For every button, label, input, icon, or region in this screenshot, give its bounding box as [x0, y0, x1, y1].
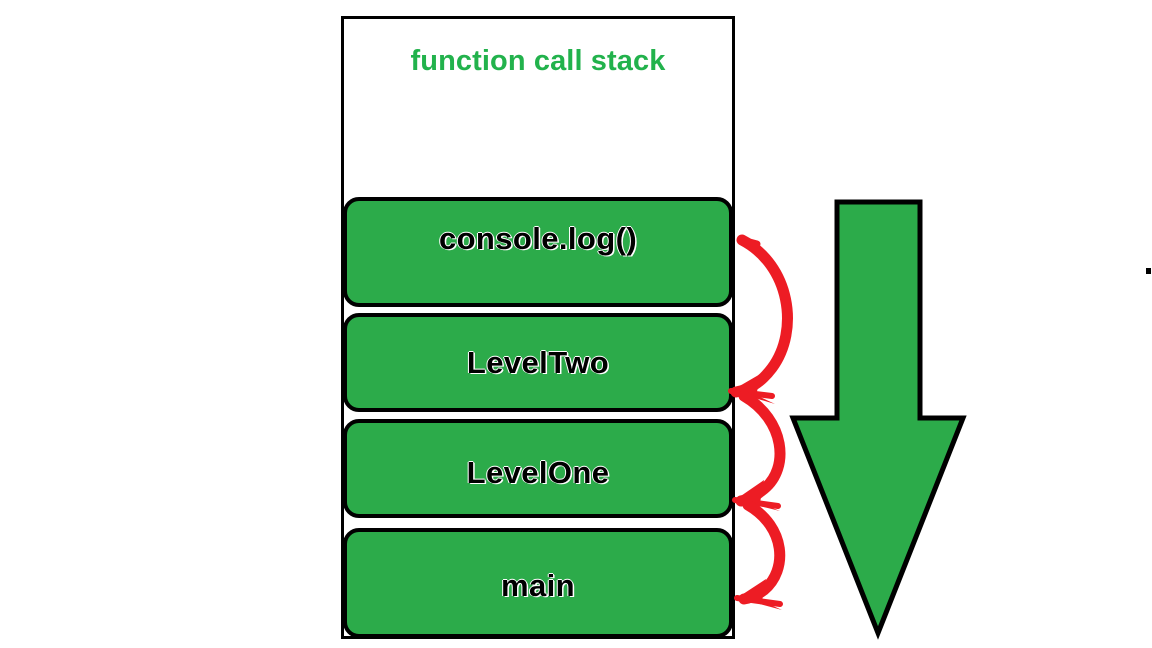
- return-arrow-2-icon: [735, 396, 780, 511]
- stack-frame-label: main: [501, 568, 575, 634]
- stack-frame-console-log[interactable]: console.log(): [343, 197, 733, 307]
- stack-frame-label: console.log(): [439, 221, 637, 303]
- diagram-canvas: function call stack console.log() LevelT…: [0, 0, 1152, 648]
- stack-title: function call stack: [341, 45, 735, 78]
- stack-frame-leveltwo[interactable]: LevelTwo: [343, 313, 733, 412]
- stack-frame-label: LevelOne: [467, 455, 610, 514]
- stray-mark: [1146, 268, 1151, 274]
- stack-frame-label: LevelTwo: [467, 345, 609, 408]
- stack-frame-levelone[interactable]: LevelOne: [343, 419, 733, 518]
- return-arrow-1-icon: [731, 240, 787, 404]
- unwind-direction-arrow-icon: [793, 202, 963, 633]
- return-arrow-3-icon: [737, 505, 782, 610]
- stack-frame-main[interactable]: main: [343, 528, 733, 638]
